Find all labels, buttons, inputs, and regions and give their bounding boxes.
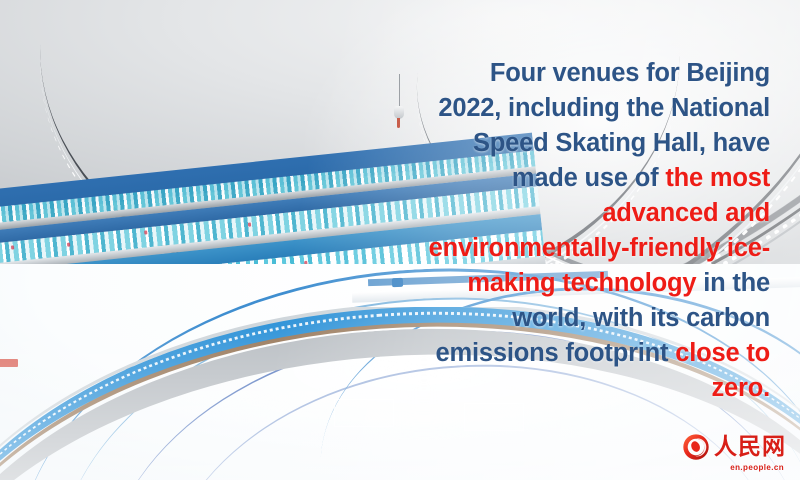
barrier-glass-panel bbox=[334, 399, 394, 427]
seat-speck bbox=[67, 242, 70, 246]
barrier-glass-panel bbox=[464, 403, 524, 431]
hanging-microphone-tip bbox=[397, 118, 400, 128]
seat-speck bbox=[144, 230, 147, 234]
headline-segment-red-2: close to zero. bbox=[675, 339, 770, 402]
logo[interactable]: 人民网 en.people.cn bbox=[682, 433, 786, 472]
logo-wordmark: 人民网 bbox=[714, 436, 786, 459]
news-graphic-canvas: Four venues for Beijing 2022, including … bbox=[0, 0, 800, 480]
peoples-daily-swirl-icon bbox=[682, 433, 710, 461]
headline-caption: Four venues for Beijing 2022, including … bbox=[426, 56, 770, 406]
logo-url[interactable]: en.people.cn bbox=[730, 463, 784, 472]
seat-speck bbox=[11, 245, 14, 249]
logo-row: 人民网 bbox=[682, 433, 786, 461]
board-ad bbox=[0, 359, 18, 367]
seat-speck bbox=[248, 222, 251, 226]
hanging-cable bbox=[399, 74, 400, 108]
